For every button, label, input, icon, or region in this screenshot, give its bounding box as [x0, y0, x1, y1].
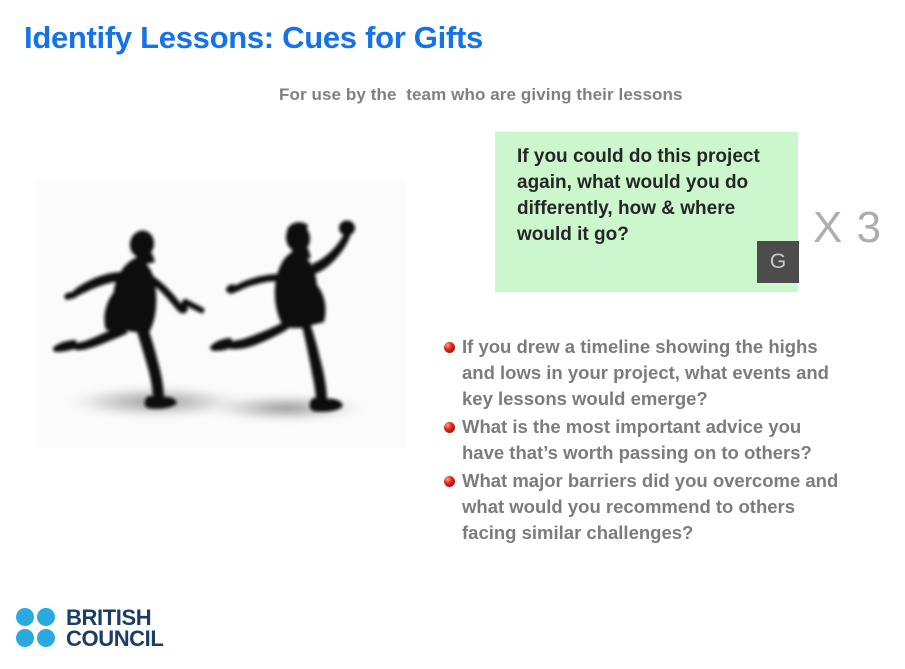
logo-dot	[37, 629, 55, 647]
logo-dot	[37, 608, 55, 626]
logo-dots-icon	[16, 608, 56, 648]
logo-wordmark: BRITISH COUNCIL	[66, 607, 163, 649]
british-council-logo: BRITISH COUNCIL	[16, 607, 163, 649]
list-item: What is the most important advice you ha…	[444, 414, 839, 466]
gift-badge[interactable]: G	[757, 241, 799, 283]
repeat-count-label: X 3	[813, 203, 882, 253]
callout-box: If you could do this project again, what…	[495, 132, 798, 292]
page-subtitle: For use by the team who are giving their…	[279, 85, 683, 105]
relay-baton-photo	[36, 180, 406, 448]
list-item-label: What is the most important advice you ha…	[462, 416, 812, 463]
page-title: Identify Lessons: Cues for Gifts	[24, 20, 483, 56]
callout-question-text: If you could do this project again, what…	[517, 144, 767, 248]
relay-runners-illustration	[36, 180, 406, 448]
list-item: What major barriers did you overcome and…	[444, 468, 839, 546]
bullet-sphere-icon	[444, 422, 455, 433]
logo-dot	[16, 629, 34, 647]
cue-question-list: If you drew a timeline showing the highs…	[444, 334, 839, 548]
list-item: If you drew a timeline showing the highs…	[444, 334, 839, 412]
logo-dot	[16, 608, 34, 626]
list-item-label: If you drew a timeline showing the highs…	[462, 336, 829, 409]
logo-wordmark-line1: BRITISH	[66, 607, 163, 628]
bullet-sphere-icon	[444, 342, 455, 353]
list-item-label: What major barriers did you overcome and…	[462, 470, 838, 543]
bullet-sphere-icon	[444, 476, 455, 487]
logo-wordmark-line2: COUNCIL	[66, 628, 163, 649]
